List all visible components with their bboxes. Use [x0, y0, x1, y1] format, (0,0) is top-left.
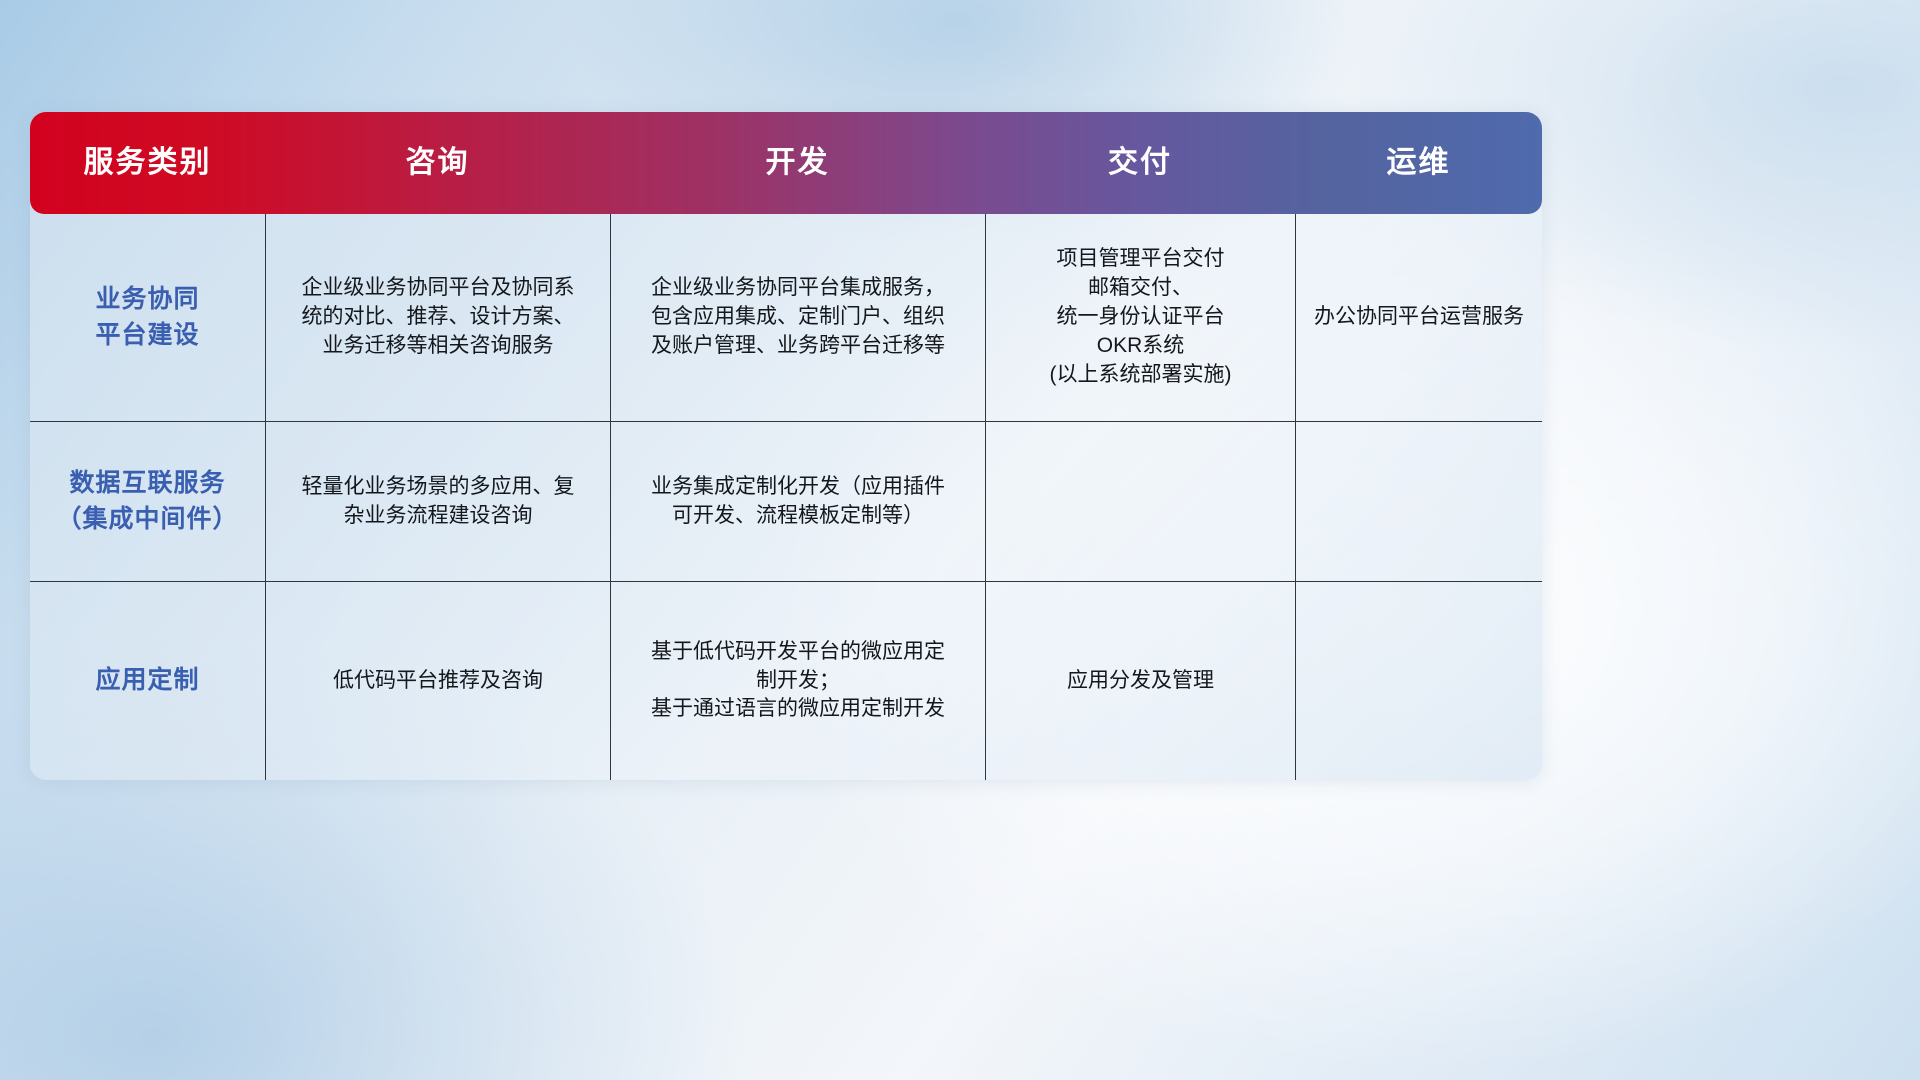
cell-consulting: 低代码平台推荐及咨询: [265, 582, 610, 780]
table-header-operations: 运维: [1295, 112, 1542, 214]
table-header-service-category: 服务类别: [30, 112, 265, 214]
table-row: 业务协同 平台建设 企业级业务协同平台及协同系 统的对比、推荐、设计方案、 业务…: [30, 214, 1542, 422]
cell-development: 基于低代码开发平台的微应用定 制开发； 基于通过语言的微应用定制开发: [610, 582, 985, 780]
table-header-consulting: 咨询: [265, 112, 610, 214]
cell-development: 业务集成定制化开发（应用插件 可开发、流程模板定制等）: [610, 422, 985, 581]
row-category-label: 业务协同 平台建设: [30, 214, 265, 421]
cell-consulting: 轻量化业务场景的多应用、复 杂业务流程建设咨询: [265, 422, 610, 581]
table-header-delivery: 交付: [985, 112, 1295, 214]
table-row: 数据互联服务 （集成中间件） 轻量化业务场景的多应用、复 杂业务流程建设咨询 业…: [30, 422, 1542, 582]
cell-operations: 办公协同平台运营服务: [1295, 214, 1542, 421]
cell-delivery: 项目管理平台交付 邮箱交付、 统一身份认证平台 OKR系统 (以上系统部署实施): [985, 214, 1295, 421]
row-category-label: 数据互联服务 （集成中间件）: [30, 422, 265, 581]
cell-delivery: 应用分发及管理: [985, 582, 1295, 780]
table-body: 业务协同 平台建设 企业级业务协同平台及协同系 统的对比、推荐、设计方案、 业务…: [30, 214, 1542, 780]
cell-delivery: [985, 422, 1295, 581]
row-category-label: 应用定制: [30, 582, 265, 780]
table-header-development: 开发: [610, 112, 985, 214]
table-row: 应用定制 低代码平台推荐及咨询 基于低代码开发平台的微应用定 制开发； 基于通过…: [30, 582, 1542, 780]
cell-development: 企业级业务协同平台集成服务， 包含应用集成、定制门户、组织 及账户管理、业务跨平…: [610, 214, 985, 421]
cell-operations: [1295, 422, 1542, 581]
cell-consulting: 企业级业务协同平台及协同系 统的对比、推荐、设计方案、 业务迁移等相关咨询服务: [265, 214, 610, 421]
service-matrix-card: 服务类别 咨询 开发 交付 运维 业务协同 平台建设 企业级业务协同平台及协同系…: [30, 112, 1542, 780]
table-header-row: 服务类别 咨询 开发 交付 运维: [30, 112, 1542, 214]
cell-operations: [1295, 582, 1542, 780]
